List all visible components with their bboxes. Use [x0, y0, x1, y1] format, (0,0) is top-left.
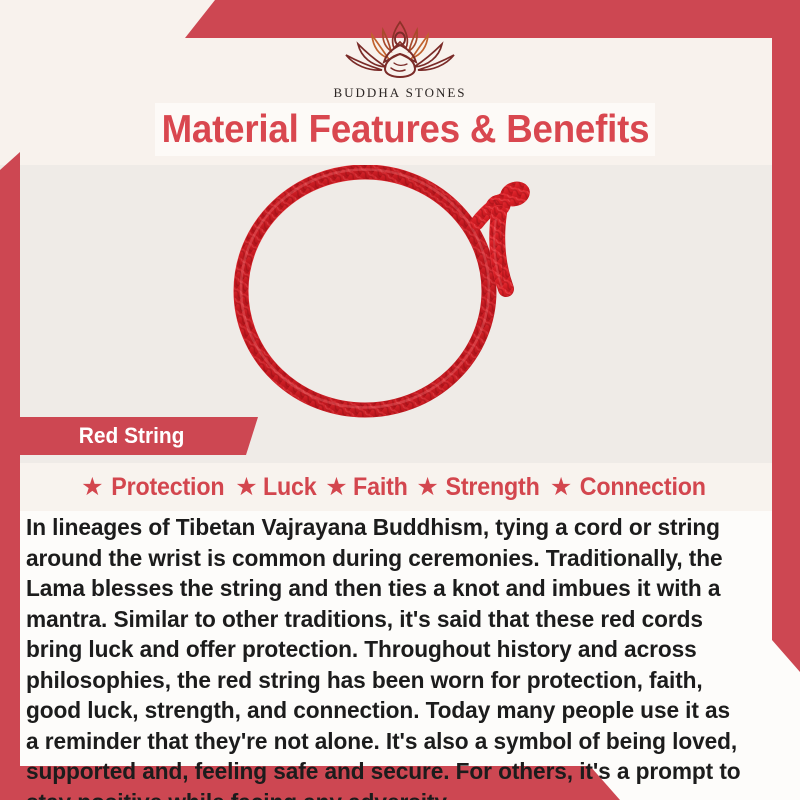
star-icon: ★: [416, 475, 438, 500]
red-string-bracelet-illustration: [215, 165, 545, 420]
infographic-page: BUDDHA STONES Material Features & Benefi…: [0, 0, 800, 800]
benefit-item-connection: ★ Connection: [550, 473, 711, 502]
benefit-label: Protection: [111, 473, 224, 502]
product-label-text: Red String: [79, 423, 185, 449]
benefit-label: Connection: [580, 473, 706, 502]
product-image: [20, 165, 772, 420]
star-icon: ★: [81, 475, 103, 500]
benefit-item-luck: ★ Luck: [235, 473, 318, 502]
product-label-ribbon: Red String: [18, 417, 258, 455]
lotus-meditating-figure-icon: [336, 16, 464, 82]
benefit-item-strength: ★ Strength: [416, 473, 543, 502]
star-icon: ★: [235, 475, 257, 500]
benefit-label: Faith: [353, 473, 408, 502]
benefits-list: ★ Protection ★ Luck ★ Faith ★ Strength ★…: [20, 466, 772, 508]
brand-logo: BUDDHA STONES: [0, 16, 800, 101]
decor-ribbon-left: [0, 152, 20, 800]
star-icon: ★: [550, 475, 572, 500]
page-title: Material Features & Benefits: [155, 103, 655, 156]
brand-wordmark: BUDDHA STONES: [333, 85, 466, 101]
description-paragraph: In lineages of Tibetan Vajrayana Buddhis…: [26, 512, 748, 800]
benefit-item-protection: ★ Protection: [81, 473, 228, 502]
benefit-item-faith: ★ Faith: [325, 473, 409, 502]
benefit-label: Luck: [263, 473, 317, 502]
benefit-label: Strength: [445, 473, 539, 502]
page-title-text: Material Features & Benefits: [161, 108, 649, 152]
star-icon: ★: [325, 475, 347, 500]
